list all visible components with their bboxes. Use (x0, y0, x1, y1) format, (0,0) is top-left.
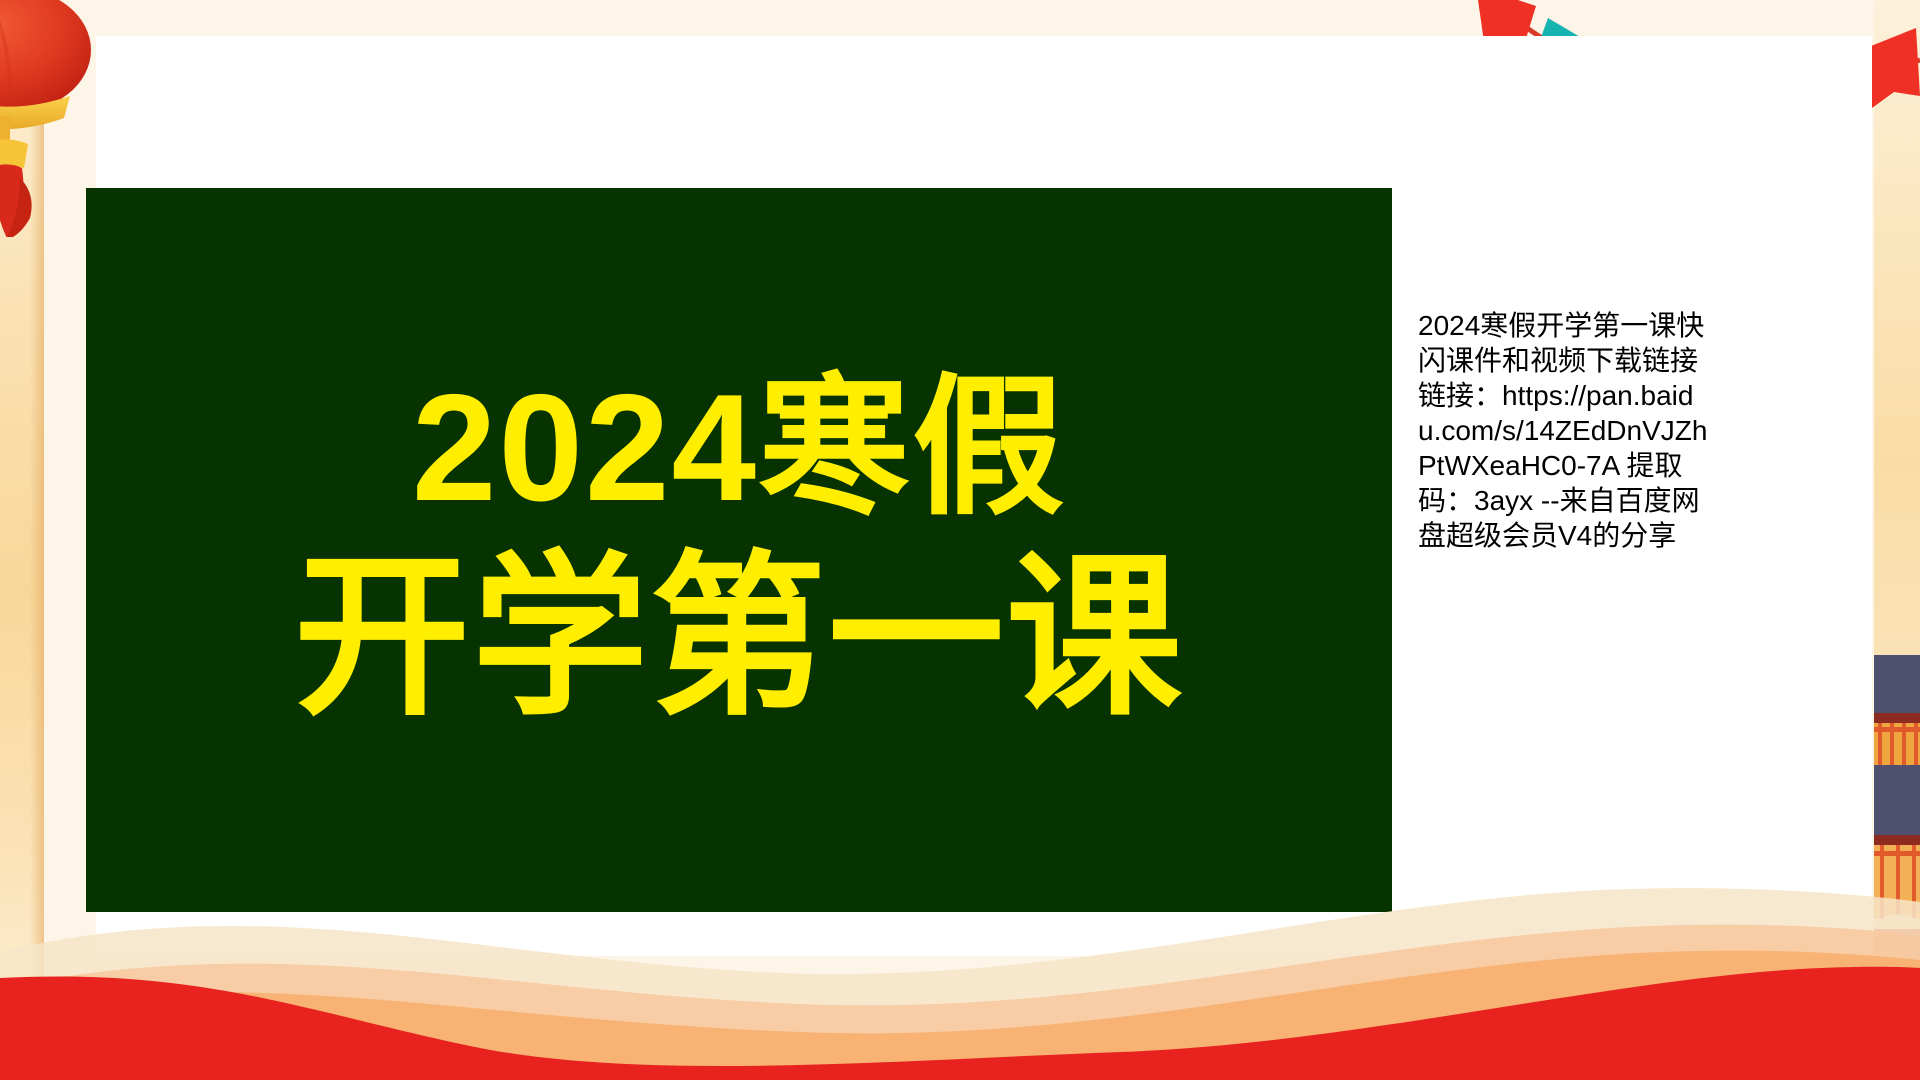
download-link-note: 2024寒假开学第一课快闪课件和视频下载链接 链接：https://pan.ba… (1418, 308, 1712, 553)
slide-canvas: 2024寒假 开学第一课 2024寒假开学第一课快闪课件和视频下载链接 链接：h… (0, 0, 1920, 1080)
blackboard-panel: 2024寒假 开学第一课 (86, 188, 1392, 912)
board-title-line-2: 开学第一课 (294, 540, 1184, 737)
bunting-flag-5 (1866, 28, 1920, 108)
red-wave-decoration (0, 860, 1920, 1080)
board-title-line-1: 2024寒假 (412, 363, 1066, 533)
